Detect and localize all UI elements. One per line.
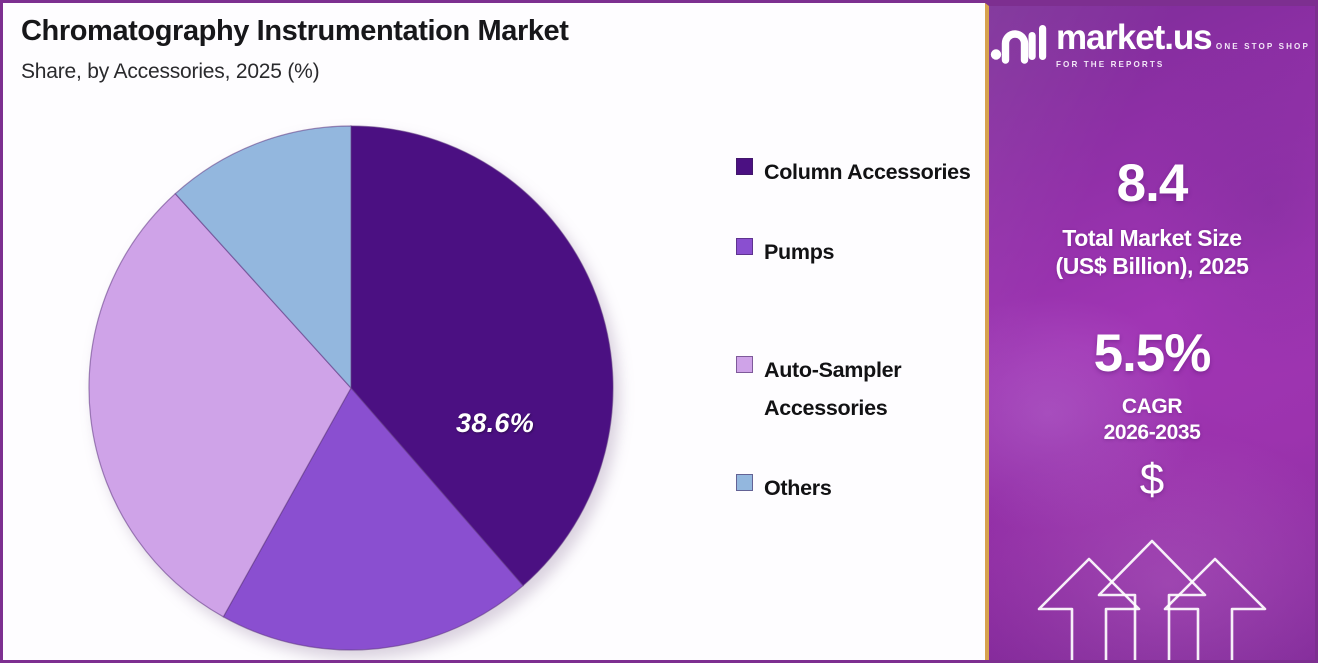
market-size-caption: Total Market Size (US$ Billion), 2025 [989,224,1315,281]
legend-label: Column Accessories [764,153,971,191]
legend-swatch-icon [736,474,753,491]
side-panel: market.us ONE STOP SHOP FOR THE REPORTS … [985,3,1318,663]
legend-swatch-icon [736,356,753,373]
logo-text-block: market.us ONE STOP SHOP FOR THE REPORTS [1056,20,1315,71]
market-size-value: 8.4 [989,156,1315,212]
logo-wordmark: market.us [1056,18,1211,57]
growth-graphic: $ [989,463,1315,663]
cagr-value: 5.5% [989,326,1315,382]
legend-label: Auto-Sampler Accessories [764,351,986,428]
brand-logo: market.us ONE STOP SHOP FOR THE REPORTS [989,20,1315,71]
market-size-caption-line-1: Total Market Size [989,224,1315,253]
legend: Column Accessories Pumps Auto-Sampler Ac… [736,153,986,507]
pie-slice-label-column-accessories: 38.6% [456,408,534,439]
legend-item-others[interactable]: Others [736,469,986,507]
infographic-root: Chromatography Instrumentation Market Sh… [0,0,1318,663]
page-title: Chromatography Instrumentation Market [21,15,569,48]
dollar-sign-icon: $ [989,455,1315,505]
cagr-caption-line-1: CAGR [989,394,1315,420]
page-subtitle: Share, by Accessories, 2025 (%) [21,60,569,84]
legend-label: Pumps [764,233,834,271]
legend-item-auto-sampler-accessories[interactable]: Auto-Sampler Accessories [736,351,986,428]
legend-label: Others [764,469,832,507]
title-block: Chromatography Instrumentation Market Sh… [21,15,569,84]
up-arrows-icon [1017,537,1287,663]
stat-market-size: 8.4 Total Market Size (US$ Billion), 202… [989,156,1315,281]
legend-item-column-accessories[interactable]: Column Accessories [736,153,986,191]
pie-svg [88,125,614,651]
pie-slices [89,126,613,650]
chart-area: Chromatography Instrumentation Market Sh… [3,3,988,660]
legend-swatch-icon [736,158,753,175]
legend-item-pumps[interactable]: Pumps [736,233,986,271]
stat-cagr: 5.5% CAGR 2026-2035 [989,326,1315,446]
legend-swatch-icon [736,238,753,255]
pie-chart: 38.6% [88,125,614,651]
market-us-logo-icon [989,21,1047,70]
cagr-caption-line-2: 2026-2035 [989,420,1315,446]
cagr-caption: CAGR 2026-2035 [989,394,1315,446]
market-size-caption-line-2: (US$ Billion), 2025 [989,252,1315,281]
